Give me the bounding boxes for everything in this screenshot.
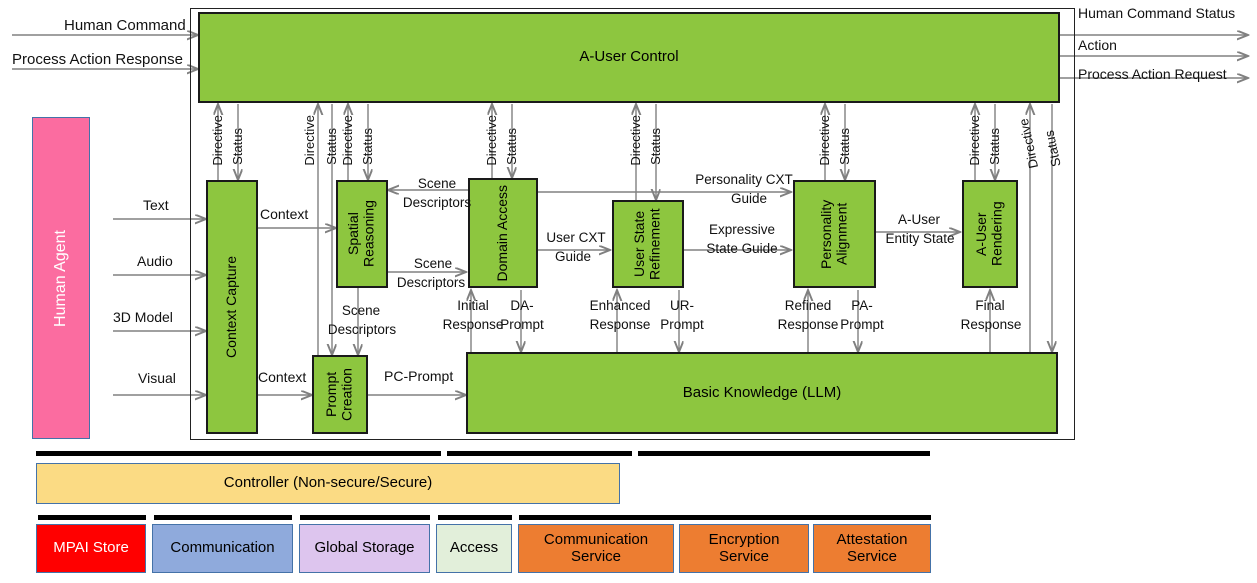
flow-label-user-cxt-guide-b: Guide — [545, 249, 601, 264]
flow-label-a-user-entity-state-a: A-User — [884, 212, 954, 227]
module-label-context-capture: Context Capture — [224, 256, 240, 358]
flow-label-enhanced-response-a: Enhanced — [578, 298, 662, 313]
label-directive-4: Directive — [485, 115, 500, 166]
bus-bar-controller-left — [36, 451, 441, 456]
label-status-2: Status — [325, 128, 340, 165]
flow-label-da-prompt-b: Prompt — [490, 317, 554, 332]
module-context-capture[interactable]: Context Capture — [206, 180, 258, 434]
flow-label-context-2: Context — [258, 370, 306, 386]
flow-label-scene-2a: Scene — [398, 256, 468, 271]
module-label-domain-access: Domain Access — [495, 185, 511, 281]
flow-label-scene-1a: Scene — [402, 176, 472, 191]
module-a-user-rendering[interactable]: A-User Rendering — [962, 180, 1018, 288]
flow-label-refined-response-a: Refined — [772, 298, 844, 313]
label-status-3: Status — [361, 128, 376, 165]
module-label-a-user-control: A-User Control — [579, 49, 678, 66]
input-label-3d-model: 3D Model — [113, 310, 173, 326]
bottom-label-communication: Communication — [170, 540, 274, 557]
bottom-label-attestation-service-line2: Service — [847, 549, 897, 566]
module-basic-knowledge[interactable]: Basic Knowledge (LLM) — [466, 352, 1058, 434]
label-status-6: Status — [838, 128, 853, 165]
input-label-text: Text — [143, 198, 169, 214]
controller-box[interactable]: Controller (Non-secure/Secure) — [36, 463, 620, 504]
controller-label: Controller (Non-secure/Secure) — [224, 475, 432, 492]
module-label-spatial-reasoning: Spatial Reasoning — [346, 182, 377, 286]
flow-label-personality-cxt-guide-b: Guide — [714, 191, 784, 206]
output-label-action: Action — [1078, 38, 1117, 54]
bottom-item-encryption-service[interactable]: Encryption Service — [679, 524, 809, 573]
bottom-item-communication-service[interactable]: Communication Service — [518, 524, 674, 573]
module-label-user-state-refinement: User State Refinement — [632, 202, 663, 286]
flow-label-da-prompt-a: DA- — [500, 298, 544, 313]
bottom-label-communication-service-line2: Service — [571, 549, 621, 566]
bottom-label-communication-service-line1: Communication — [544, 532, 648, 549]
label-status-4: Status — [505, 128, 520, 165]
module-label-prompt-creation: Prompt Creation — [324, 357, 355, 432]
output-label-process-action-request: Process Action Request — [1078, 67, 1227, 83]
label-directive-2: Directive — [303, 115, 318, 166]
label-status-1: Status — [231, 128, 246, 165]
flow-label-a-user-entity-state-b: Entity State — [878, 231, 962, 246]
flow-label-context-1: Context — [260, 207, 308, 223]
flow-label-scene-3a: Scene — [326, 303, 396, 318]
label-directive-1: Directive — [211, 115, 226, 166]
bottom-label-global-storage: Global Storage — [314, 540, 414, 557]
flow-label-user-cxt-guide-a: User CXT — [541, 230, 611, 245]
bottom-item-communication[interactable]: Communication — [152, 524, 293, 573]
flow-label-ur-prompt-b: Prompt — [650, 317, 714, 332]
flow-label-final-response-a: Final — [962, 298, 1018, 313]
flow-label-pa-prompt-b: Prompt — [830, 317, 894, 332]
module-label-a-user-rendering: A-User Rendering — [974, 182, 1005, 286]
bus-bar-global-storage — [300, 515, 430, 520]
bottom-label-attestation-service-line1: Attestation — [837, 532, 908, 549]
bottom-item-attestation-service[interactable]: Attestation Service — [813, 524, 931, 573]
output-label-human-command-status: Human Command Status — [1078, 6, 1235, 22]
bus-bar-controller-right — [638, 451, 930, 456]
flow-label-initial-response-a: Initial — [443, 298, 503, 313]
human-agent-label: Human Agent — [52, 230, 70, 327]
module-spatial-reasoning[interactable]: Spatial Reasoning — [336, 180, 388, 288]
input-label-process-action-response: Process Action Response — [12, 52, 183, 69]
flow-label-pa-prompt-a: PA- — [840, 298, 884, 313]
label-directive-5: Directive — [629, 115, 644, 166]
human-agent-box[interactable]: Human Agent — [32, 117, 90, 439]
label-directive-3: Directive — [341, 115, 356, 166]
flow-label-final-response-b: Response — [948, 317, 1034, 332]
module-personality-alignment[interactable]: Personality Alignment — [793, 180, 876, 288]
module-user-state-refinement[interactable]: User State Refinement — [612, 200, 684, 288]
module-label-personality-alignment: Personality Alignment — [819, 182, 850, 286]
flow-label-expressive-state-guide-a: Expressive — [697, 222, 787, 237]
label-status-7: Status — [988, 128, 1003, 165]
input-label-visual: Visual — [138, 371, 176, 387]
flow-label-scene-3b: Descriptors — [310, 322, 414, 337]
label-directive-6: Directive — [818, 115, 833, 166]
flow-label-scene-2b: Descriptors — [382, 275, 480, 290]
bottom-label-encryption-service-line1: Encryption — [709, 532, 780, 549]
bottom-item-global-storage[interactable]: Global Storage — [299, 524, 430, 573]
input-label-audio: Audio — [137, 254, 173, 270]
module-prompt-creation[interactable]: Prompt Creation — [312, 355, 368, 434]
bottom-label-mpai-store: MPAI Store — [53, 540, 129, 557]
flow-label-expressive-state-guide-b: State Guide — [692, 241, 792, 256]
bottom-label-encryption-service-line2: Service — [719, 549, 769, 566]
flow-label-personality-cxt-guide-a: Personality CXT — [686, 172, 802, 187]
module-label-basic-knowledge: Basic Knowledge (LLM) — [683, 385, 841, 402]
bottom-item-access[interactable]: Access — [436, 524, 512, 573]
module-a-user-control[interactable]: A-User Control — [198, 12, 1060, 103]
flow-label-ur-prompt-a: UR- — [662, 298, 702, 313]
bottom-item-mpai-store[interactable]: MPAI Store — [36, 524, 146, 573]
label-directive-7: Directive — [968, 115, 983, 166]
bottom-label-access: Access — [450, 540, 498, 557]
flow-label-scene-1b: Descriptors — [388, 195, 486, 210]
bus-bar-controller-mid — [447, 451, 632, 456]
label-status-5: Status — [649, 128, 664, 165]
bus-bar-communication — [154, 515, 292, 520]
bus-bar-access — [438, 515, 512, 520]
input-label-human-command: Human Command — [64, 18, 186, 35]
diagram-canvas: Human Command Process Action Response Hu… — [0, 0, 1257, 583]
flow-label-pc-prompt: PC-Prompt — [384, 369, 453, 385]
bus-bar-mpai-store — [38, 515, 146, 520]
bus-bar-services — [519, 515, 931, 520]
